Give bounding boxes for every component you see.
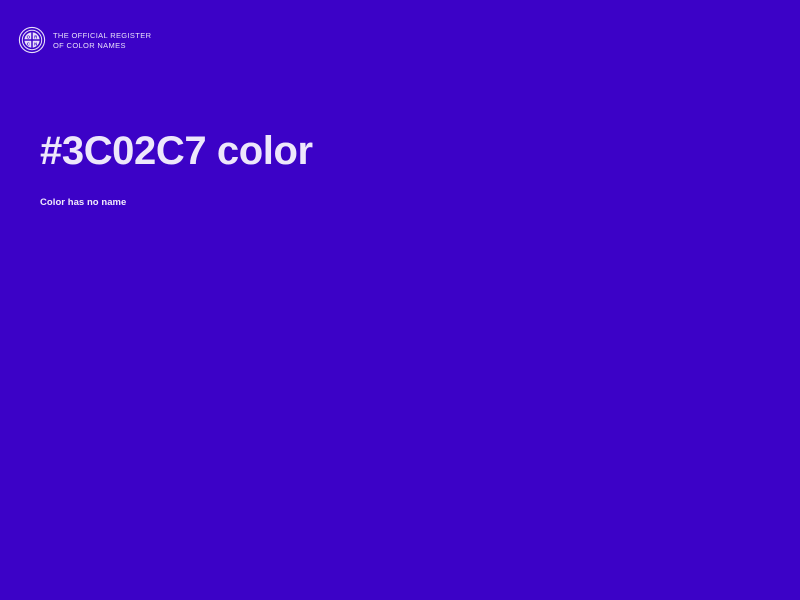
brand-wordmark-line-2: OF COLOR NAMES <box>53 41 151 50</box>
brand-wordmark-line-1: THE OFFICIAL REGISTER <box>53 31 151 40</box>
main-content: #3C02C7 color Color has no name <box>40 128 740 209</box>
color-swatch-background <box>0 0 800 600</box>
brand-wordmark: THE OFFICIAL REGISTER OF COLOR NAMES <box>53 31 151 50</box>
brand-lockup[interactable]: O R C N THE OFFICIAL REGISTER OF COLOR N… <box>18 26 151 54</box>
register-seal-icon: O R C N <box>18 26 46 54</box>
svg-text:N: N <box>34 41 37 46</box>
page-title: #3C02C7 color <box>40 128 740 174</box>
color-name-status: Color has no name <box>40 196 740 209</box>
svg-text:O: O <box>27 34 31 39</box>
